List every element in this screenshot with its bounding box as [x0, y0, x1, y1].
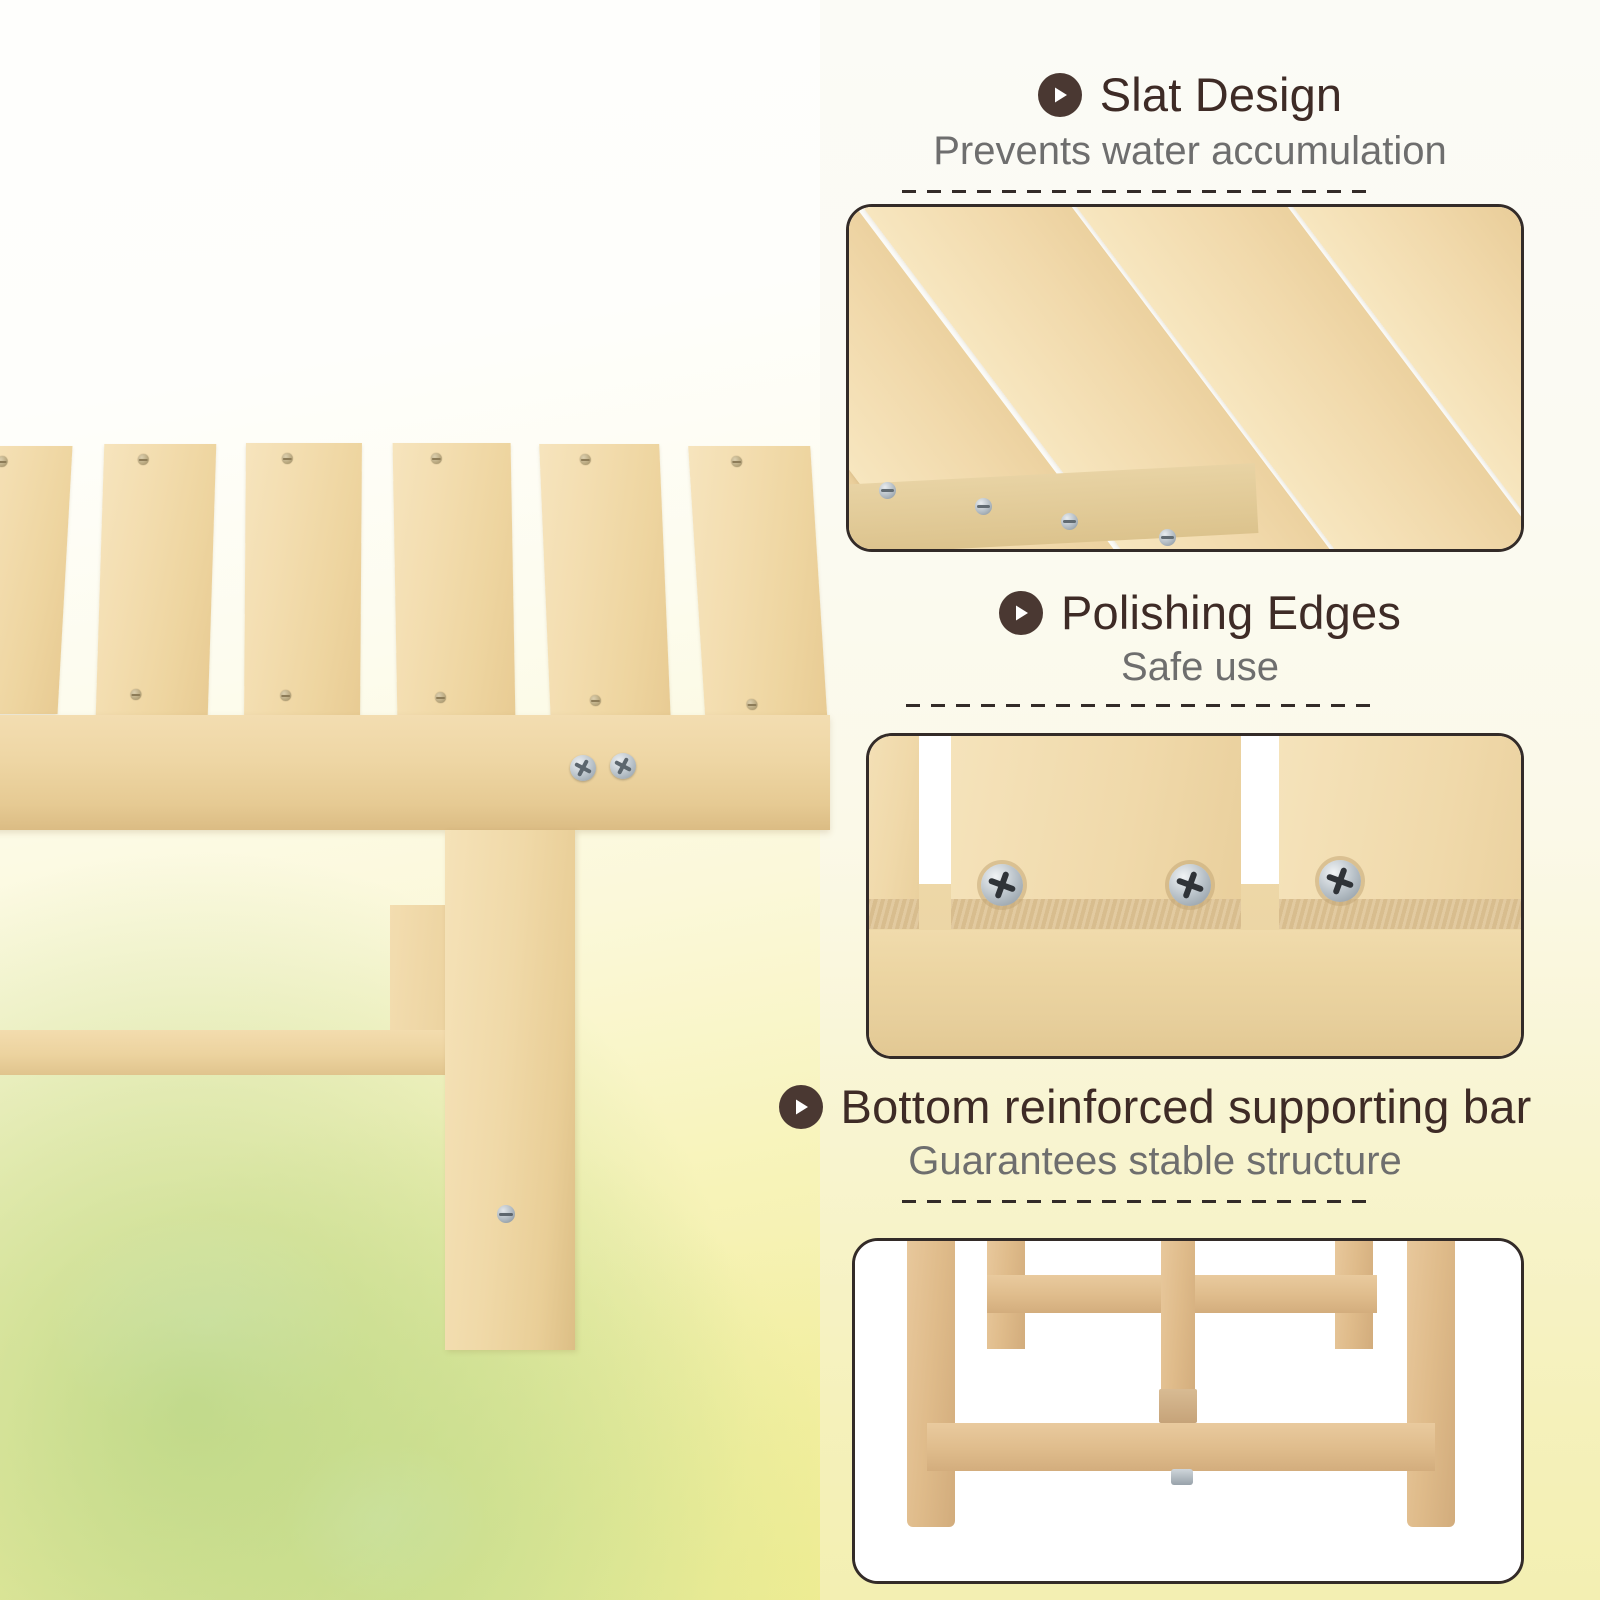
divider-dashed-line [906, 704, 1376, 707]
leg-screw [497, 1205, 515, 1223]
feature-heading-row: Polishing Edges [880, 588, 1520, 637]
play-triangle-icon [1038, 73, 1082, 117]
seat-slat [688, 446, 828, 726]
bench-apron-rail [0, 715, 830, 830]
slat-gap [919, 734, 951, 884]
bench-leg-right [1407, 1238, 1455, 1527]
slat-end [866, 734, 919, 929]
centre-bar-end-cap [1159, 1389, 1197, 1423]
rail-screw [1159, 529, 1176, 546]
feature-heading-row: Slat Design [840, 70, 1540, 119]
seat-slat [244, 443, 362, 717]
feature-image-slat-design [846, 204, 1524, 552]
play-triangle-icon [779, 1085, 823, 1129]
feature-title: Polishing Edges [1061, 588, 1401, 637]
divider-dashed-line [902, 1200, 1372, 1203]
rail-screw [879, 482, 896, 499]
feature-heading-row: Bottom reinforced supporting bar [730, 1082, 1580, 1131]
bench-seat-slats [0, 430, 820, 730]
feature-subtitle: Safe use [880, 645, 1520, 690]
play-triangle-icon [999, 591, 1043, 635]
feature-bottom-supporting-bar: Bottom reinforced supporting bar Guarant… [730, 1082, 1580, 1203]
slat-gap [1241, 734, 1279, 884]
slat-screw [981, 864, 1023, 906]
divider-dashed-line [902, 190, 1372, 193]
seat-slat [393, 443, 516, 719]
slat-end [1279, 734, 1524, 929]
feature-image-supporting-bar [852, 1238, 1524, 1584]
rail-screw [975, 498, 992, 515]
lower-supporting-bar [927, 1423, 1435, 1471]
feature-subtitle: Guarantees stable structure [730, 1139, 1580, 1184]
bench-leg [445, 830, 575, 1350]
feature-subtitle: Prevents water accumulation [840, 129, 1540, 174]
bench-stretcher-bar [0, 1030, 480, 1075]
bench-leg-left [907, 1238, 955, 1527]
slat-screw [1169, 864, 1211, 906]
feature-title: Bottom reinforced supporting bar [841, 1082, 1532, 1131]
seat-slat [96, 444, 217, 716]
apron-screw [570, 755, 596, 781]
infographic-canvas: Slat Design Prevents water accumulation … [0, 0, 1600, 1600]
lower-board [869, 930, 1521, 1056]
slat-screw [1319, 860, 1361, 902]
apron-screw [610, 753, 636, 779]
seat-slat [539, 444, 671, 722]
feature-polishing-edges: Polishing Edges Safe use [880, 588, 1520, 707]
feature-title: Slat Design [1100, 70, 1343, 119]
feature-image-polishing-edges [866, 733, 1524, 1059]
feature-slat-design: Slat Design Prevents water accumulation [840, 70, 1540, 193]
seat-slat [0, 446, 72, 714]
supporting-bar-bolt [1171, 1469, 1193, 1485]
rail-screw [1061, 513, 1078, 530]
hero-product-photo [0, 430, 840, 1350]
